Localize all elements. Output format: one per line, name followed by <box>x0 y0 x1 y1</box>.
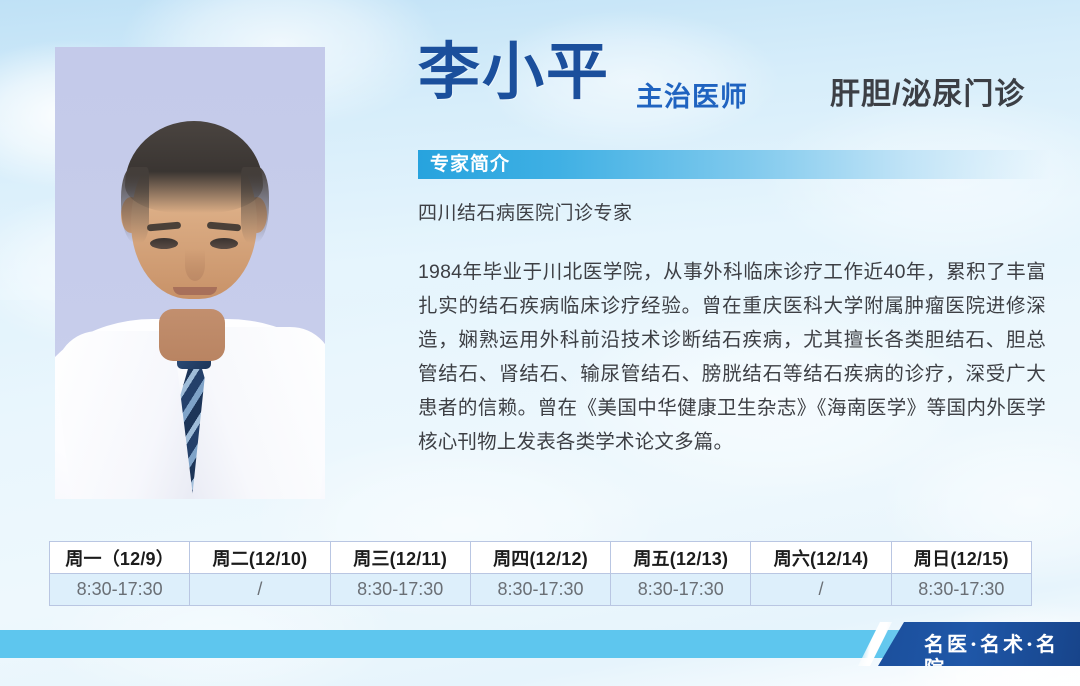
footer-slogan-banner: 名医·名术·名院 <box>878 622 1080 666</box>
section-header-label: 专家简介 <box>430 154 510 175</box>
schedule-hours-cell: / <box>190 574 330 606</box>
schedule-hours-cell: 8:30-17:30 <box>611 574 751 606</box>
schedule-day-header: 周四(12/12) <box>470 542 610 574</box>
schedule-hours-cell: 8:30-17:30 <box>891 574 1031 606</box>
schedule-day-header: 周六(12/14) <box>751 542 891 574</box>
schedule-hours-cell: 8:30-17:30 <box>330 574 470 606</box>
portrait-hair-side-right <box>241 167 269 243</box>
schedule-header-row: 周一（12/9） 周二(12/10) 周三(12/11) 周四(12/12) 周… <box>50 542 1032 574</box>
portrait-nose <box>185 249 205 281</box>
section-header-bar: 专家简介 <box>418 150 1050 179</box>
portrait-eye-left <box>150 238 178 249</box>
weekly-schedule-table: 周一（12/9） 周二(12/10) 周三(12/11) 周四(12/12) 周… <box>49 541 1032 606</box>
portrait-hair-side-left <box>121 167 149 243</box>
schedule-day-header: 周一（12/9） <box>50 542 190 574</box>
doctor-department: 肝胆/泌尿门诊 <box>830 80 1025 110</box>
doctor-profile-card: 李小平 主治医师 肝胆/泌尿门诊 专家简介 四川结石病医院门诊专家 1984年毕… <box>0 0 1080 686</box>
schedule-day-header: 周三(12/11) <box>330 542 470 574</box>
doctor-identity-row: 李小平 主治医师 肝胆/泌尿门诊 <box>418 48 1058 132</box>
portrait-neck <box>159 309 225 361</box>
intro-lead-text: 四川结石病医院门诊专家 <box>418 200 633 228</box>
schedule-day-header: 周二(12/10) <box>190 542 330 574</box>
portrait-mouth <box>173 287 217 295</box>
portrait-eye-right <box>210 238 238 249</box>
schedule-hours-cell: / <box>751 574 891 606</box>
doctor-portrait-photo <box>55 47 325 499</box>
schedule-hours-cell: 8:30-17:30 <box>50 574 190 606</box>
schedule-hours-row: 8:30-17:30 / 8:30-17:30 8:30-17:30 8:30-… <box>50 574 1032 606</box>
doctor-professional-title: 主治医师 <box>636 84 748 111</box>
doctor-name: 李小平 <box>418 42 610 104</box>
footer-slogan-text: 名医·名术·名院 <box>924 632 1080 680</box>
schedule-day-header: 周日(12/15) <box>891 542 1031 574</box>
intro-body-text: 1984年毕业于川北医学院，从事外科临床诊疗工作近40年，累积了丰富扎实的结石疾… <box>418 255 1046 459</box>
schedule-day-header: 周五(12/13) <box>611 542 751 574</box>
schedule-hours-cell: 8:30-17:30 <box>470 574 610 606</box>
